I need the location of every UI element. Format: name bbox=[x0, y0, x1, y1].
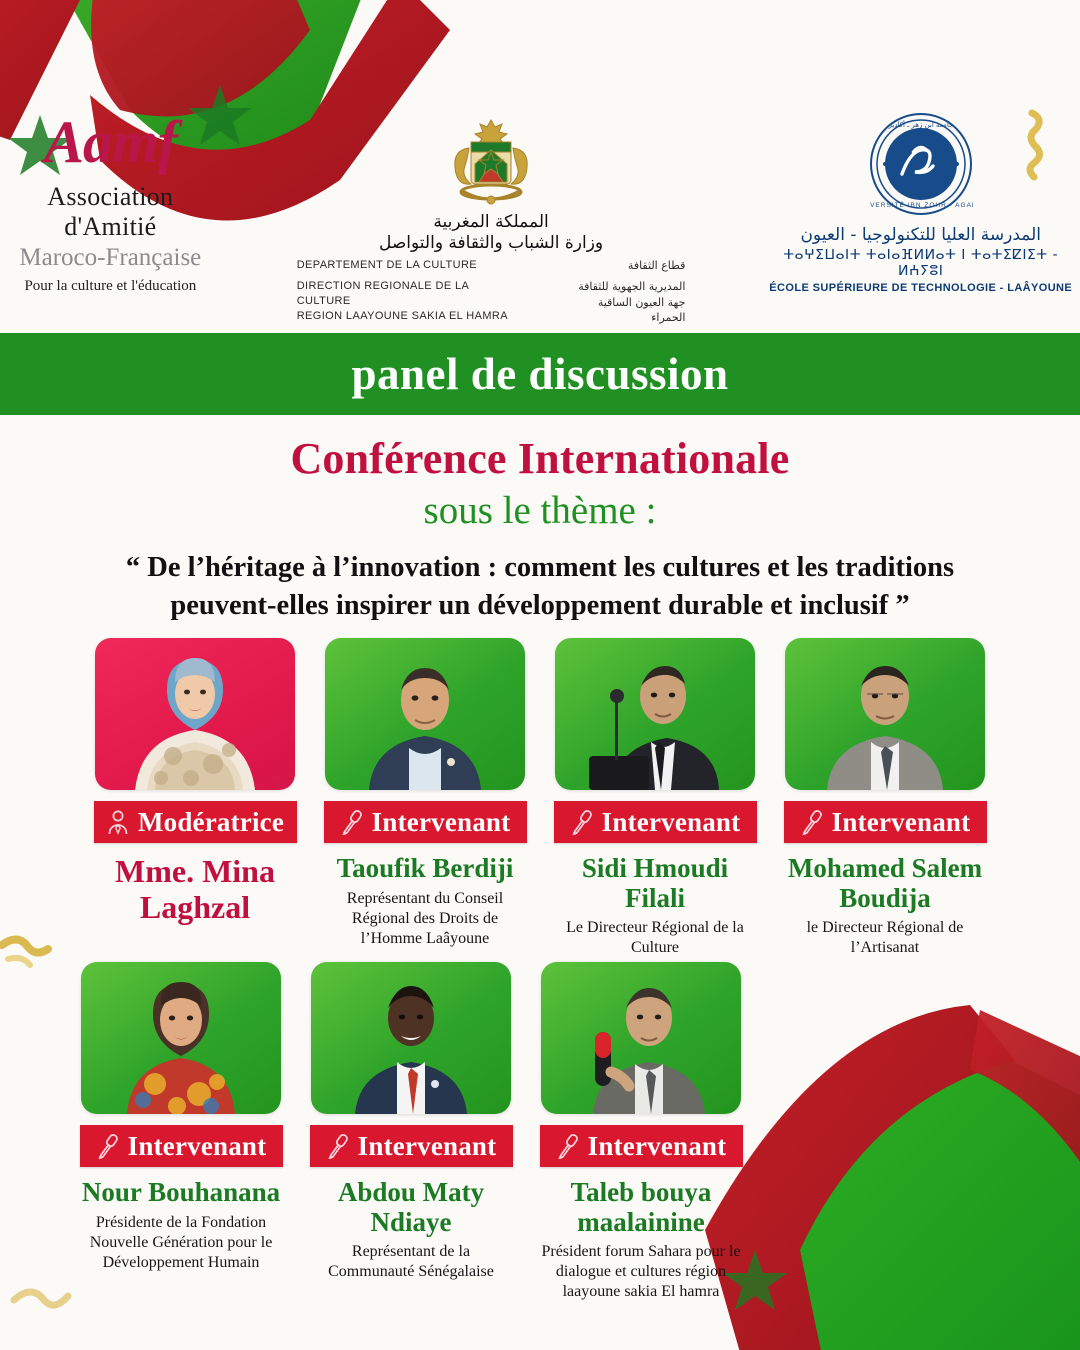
role-badge: Intervenant bbox=[554, 801, 757, 843]
portrait-illustration bbox=[81, 962, 281, 1114]
portrait-illustration bbox=[95, 638, 295, 790]
role-badge: Modératrice bbox=[94, 801, 297, 843]
speaker-title: Représentant du Conseil Régional des Dro… bbox=[319, 889, 531, 949]
panel-banner: panel de discussion bbox=[0, 333, 1080, 415]
microphone-icon bbox=[340, 809, 364, 835]
ministry-dept-ar: قطاع الثقافة bbox=[563, 258, 685, 273]
universite-ibn-zohr-seal-icon: UNIVERSITÉ IBN ZOHR - AGADIR جامعة ابن ز… bbox=[869, 112, 973, 216]
speaker-title: Présidente de la Fondation Nouvelle Géné… bbox=[75, 1213, 287, 1273]
speaker-title: Le Directeur Régional de la Culture bbox=[549, 918, 761, 958]
speaker-name: Taleb bouya maalainine bbox=[535, 1178, 747, 1237]
speaker-card[interactable]: Intervenant Taoufik Berdiji Représentant… bbox=[319, 638, 531, 958]
ministry-dept-fr: DEPARTEMENT DE LA CULTURE bbox=[297, 258, 521, 273]
speaker-card[interactable]: Intervenant Nour Bouhanana Présidente de… bbox=[75, 962, 287, 1302]
logo-est-laayoune: UNIVERSITÉ IBN ZOHR - AGADIR جامعة ابن ز… bbox=[761, 112, 1080, 294]
aamf-line-2: Maroco-Française bbox=[0, 244, 221, 272]
est-school-arabic: المدرسة العليا للتكنولوجيا - العيون bbox=[761, 225, 1080, 245]
portrait-illustration bbox=[785, 638, 985, 790]
logo-ministry-of-culture: المملكة المغربية وزارة الشباب والثقافة و… bbox=[297, 118, 686, 326]
speaker-photo bbox=[311, 962, 511, 1114]
aamf-line-1: Association d'Amitié bbox=[0, 182, 221, 242]
ministry-arabic-line-2: وزارة الشباب والثقافة والتواصل bbox=[297, 233, 686, 253]
speaker-title: Président forum Sahara pour le dialogue … bbox=[535, 1242, 747, 1302]
microphone-icon bbox=[556, 1133, 580, 1159]
speaker-title: Représentant de la Communauté Sénégalais… bbox=[305, 1242, 517, 1282]
aamf-wordmark: Aamf bbox=[0, 112, 221, 172]
role-badge-label: Intervenant bbox=[358, 1131, 497, 1162]
speaker-name: Mohamed Salem Boudija bbox=[779, 854, 991, 913]
role-badge: Intervenant bbox=[784, 801, 987, 843]
person-tie-icon bbox=[106, 809, 130, 835]
speaker-card[interactable]: Intervenant Taleb bouya maalainine Prési… bbox=[535, 962, 747, 1302]
ministry-dir-ar-1: المديرية الجهوية للثقافة bbox=[563, 279, 685, 294]
logo-row: Aamf Association d'Amitié Maroco-Françai… bbox=[0, 112, 1080, 317]
speaker-name: Abdou Maty Ndiaye bbox=[305, 1178, 517, 1237]
speaker-card[interactable]: Modératrice Mme. Mina Laghzal bbox=[89, 638, 301, 958]
role-badge: Intervenant bbox=[324, 801, 527, 843]
ministry-dir-ar-2: جهة العيون الساقية الحمراء bbox=[563, 295, 685, 326]
logo-aamf: Aamf Association d'Amitié Maroco-Françai… bbox=[0, 112, 221, 295]
aamf-line-3: Pour la culture et l'éducation bbox=[0, 278, 221, 295]
role-badge-label: Modératrice bbox=[138, 807, 284, 838]
est-school-french: ÉCOLE SUPÉRIEURE DE TECHNOLOGIE - LAÂYOU… bbox=[761, 282, 1080, 294]
role-badge: Intervenant bbox=[540, 1125, 743, 1167]
theme-quote-line-1: “ De l’héritage à l’innovation : comment… bbox=[32, 549, 1048, 587]
poster-canvas: Aamf Association d'Amitié Maroco-Françai… bbox=[0, 0, 1080, 1350]
theme-label: sous le thème : bbox=[0, 490, 1080, 533]
speaker-photo bbox=[555, 638, 755, 790]
panel-banner-title: panel de discussion bbox=[351, 348, 728, 400]
speaker-card[interactable]: Intervenant Abdou Maty Ndiaye Représenta… bbox=[305, 962, 517, 1302]
moroccan-royal-coat-of-arms-icon bbox=[435, 118, 547, 210]
portrait-illustration bbox=[541, 962, 741, 1114]
microphone-icon bbox=[570, 809, 594, 835]
ministry-dir-fr-1: DIRECTION REGIONALE DE LA CULTURE bbox=[297, 279, 521, 309]
conference-title: Conférence Internationale bbox=[0, 435, 1080, 483]
speaker-name: Nour Bouhanana bbox=[80, 1178, 282, 1208]
role-badge-label: Intervenant bbox=[128, 1131, 267, 1162]
role-badge-label: Intervenant bbox=[588, 1131, 727, 1162]
role-badge-label: Intervenant bbox=[832, 807, 971, 838]
ministry-arabic-line-1: المملكة المغربية bbox=[297, 212, 686, 232]
speakers-row-2: Intervenant Nour Bouhanana Présidente de… bbox=[0, 962, 1080, 1302]
speaker-photo bbox=[81, 962, 281, 1114]
speaker-photo bbox=[541, 962, 741, 1114]
speaker-name: Taoufik Berdiji bbox=[335, 854, 516, 884]
title-block: Conférence Internationale sous le thème … bbox=[0, 435, 1080, 625]
speaker-title: le Directeur Régional de l’Artisanat bbox=[779, 918, 991, 958]
portrait-illustration bbox=[325, 638, 525, 790]
svg-text:UNIVERSITÉ IBN ZOHR - AGADIR: UNIVERSITÉ IBN ZOHR - AGADIR bbox=[869, 200, 973, 209]
portrait-illustration bbox=[555, 638, 755, 790]
portrait-illustration bbox=[311, 962, 511, 1114]
theme-quote: “ De l’héritage à l’innovation : comment… bbox=[0, 549, 1080, 624]
speaker-photo bbox=[325, 638, 525, 790]
role-badge-label: Intervenant bbox=[372, 807, 511, 838]
speaker-photo bbox=[95, 638, 295, 790]
ministry-dir-fr-2: REGION LAAYOUNE SAKIA EL HAMRA bbox=[297, 309, 521, 324]
role-badge: Intervenant bbox=[80, 1125, 283, 1167]
theme-quote-line-2: peuvent-elles inspirer un développement … bbox=[32, 587, 1048, 625]
speakers-row-1: Modératrice Mme. Mina Laghzal bbox=[0, 638, 1080, 958]
role-badge-label: Intervenant bbox=[602, 807, 741, 838]
speaker-card[interactable]: Intervenant Mohamed Salem Boudija le Dir… bbox=[779, 638, 991, 958]
microphone-icon bbox=[96, 1133, 120, 1159]
speaker-name: Sidi Hmoudi Filali bbox=[549, 854, 761, 913]
microphone-icon bbox=[326, 1133, 350, 1159]
speaker-card[interactable]: Intervenant Sidi Hmoudi Filali Le Direct… bbox=[549, 638, 761, 958]
speaker-name: Mme. Mina Laghzal bbox=[89, 854, 301, 926]
microphone-icon bbox=[800, 809, 824, 835]
est-school-tifinagh: ⵜⴰⵖⵉⵡⴰⵏⵜ ⵜⴰⵏⴰⴼⵍⵍⴰⵜ ⵏ ⵜⴰⵜⵉⵇⵏⵉⵜ - ⵍⵄⵢⵓⵏ bbox=[761, 247, 1080, 279]
svg-text:جامعة ابن زهر ـ أكادير: جامعة ابن زهر ـ أكادير bbox=[887, 120, 953, 129]
speaker-photo bbox=[785, 638, 985, 790]
role-badge: Intervenant bbox=[310, 1125, 513, 1167]
